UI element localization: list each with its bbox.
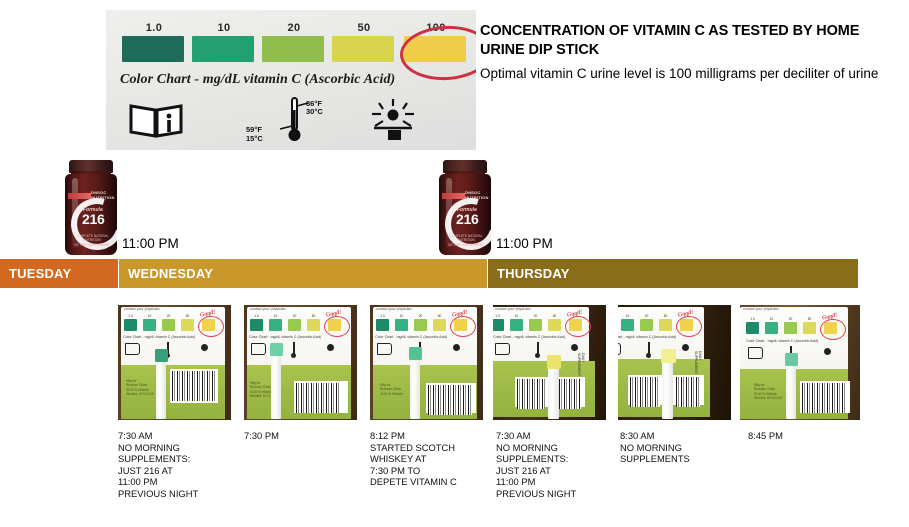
- page-title: CONCENTRATION OF VITAMIN C AS TESTED BY …: [480, 22, 880, 60]
- test-photo-5: 1.0 10 20 50 100 Good! Color Chart - mg/…: [618, 305, 731, 420]
- mfg-address: Mfg for Riordan Clinic 3100 N Hillside W…: [754, 383, 782, 401]
- mfg-line-3: Wichita, KS 67219: [126, 392, 154, 396]
- mini-num-1: 10: [269, 314, 282, 318]
- mfg-line-3: Wichita, KS 67219: [754, 396, 782, 400]
- barcode-icon-left: [517, 379, 545, 409]
- swatch-color-2: [262, 36, 324, 62]
- swatch-color-0: [122, 36, 184, 62]
- caption-2-line-0: 7:30 PM: [244, 430, 372, 442]
- mini-thermometer-bulb-icon: [535, 353, 540, 358]
- bottle-label-closeup: contact your physician. 1.0 10 20 50 100…: [370, 305, 483, 420]
- swatch-10: 10: [192, 22, 256, 62]
- barcode-icon: [172, 371, 216, 401]
- bottle-label-closeup: contact your physician. 1.0 10 20 50 100…: [493, 305, 606, 420]
- color-swatch-row: 1.0 10 20 50 100: [122, 22, 462, 70]
- barcode-icon-right: [559, 379, 581, 409]
- caption-4-line-2: SUPPLEMENTS:: [496, 453, 624, 465]
- mini-sun-icon: [571, 344, 578, 351]
- mini-swatch-1: [765, 322, 778, 334]
- mini-book-icon: [377, 343, 392, 355]
- mini-swatch-2: [288, 319, 301, 331]
- timeline-day-tuesday: TUESDAY: [0, 259, 118, 288]
- mini-thermometer-bulb-icon: [291, 353, 296, 358]
- test-strip-pad-1: [155, 349, 168, 362]
- caption-5-line-1: NO MORNING: [620, 442, 748, 454]
- page-subtitle: Optimal vitamin C urine level is 100 mil…: [480, 64, 880, 83]
- test-caption-1: 7:30 AM NO MORNING SUPPLEMENTS: JUST 216…: [118, 430, 246, 500]
- mini-book-icon: [125, 343, 140, 355]
- caption-4-line-0: 7:30 AM: [496, 430, 624, 442]
- bottle-footer-line1: COMPLETE NATURAL NUTRITION: [446, 234, 486, 243]
- bottle-graphic: DNSOC NUTRITION Formula 216 COMPLETE NAT…: [434, 160, 496, 255]
- caption-3-line-3: 7:30 PM TO: [370, 465, 498, 477]
- caption-1-line-4: 11:00 PM: [118, 476, 246, 488]
- mini-red-circle-icon: [820, 319, 846, 340]
- label-side-text: DAILY SUPPLEMENT: [576, 353, 585, 363]
- caption-3-line-2: WHISKEY AT: [370, 453, 498, 465]
- mini-swatch-3: [548, 319, 561, 331]
- label-mini-swatches: 1.0 10 20 50 100 Good!: [746, 317, 846, 337]
- swatch-label-0: 1.0: [122, 22, 186, 34]
- mini-chart-caption: Color Chart - mg/dL vitamin C (Ascorbic …: [746, 339, 846, 343]
- mini-swatch-3: [433, 319, 446, 331]
- bottle-footer-line2: DIETARY SUPPLEMENT: [446, 243, 486, 247]
- swatch-label-2: 20: [262, 22, 326, 34]
- temp-high-c: 30°C: [306, 107, 323, 116]
- mfg-address: Mfg for Riordan Clinic 3100 N Hillside: [380, 383, 403, 396]
- bottle-footer-text: COMPLETE NATURAL NUTRITION DIETARY SUPPL…: [446, 234, 486, 247]
- caption-5-line-2: SUPPLEMENTS: [620, 453, 748, 465]
- mini-sun-icon: [327, 344, 334, 351]
- mini-swatch-0: [376, 319, 389, 331]
- test-caption-6: 8:45 PM: [748, 430, 876, 442]
- test-strip-pad-5: [661, 349, 676, 363]
- test-photo-2: contact your physician. 1.0 10 20 50 100…: [244, 305, 357, 420]
- mini-red-circle-icon: [450, 316, 476, 337]
- swatch-color-1: [192, 36, 254, 62]
- mini-sun-icon: [824, 348, 831, 355]
- mini-chart-caption: Color Chart - mg/dL vitamin C (Ascorbic …: [493, 335, 593, 339]
- mini-swatch-3: [181, 319, 194, 331]
- mini-red-circle-icon: [676, 316, 702, 337]
- bottle-graphic: DNSOC NUTRITION Formula 216 COMPLETE NAT…: [60, 160, 122, 255]
- temp-low-f: 59°F: [246, 125, 262, 134]
- mini-num-0: 1.0: [376, 314, 389, 318]
- mini-swatch-2: [529, 319, 542, 331]
- timeline-bar: TUESDAY WEDNESDAY THURSDAY: [0, 259, 858, 288]
- test-caption-5: 8:30 AM NO MORNING SUPPLEMENTS: [620, 430, 748, 465]
- timeline-day-thursday: THURSDAY: [488, 259, 858, 288]
- mini-swatch-0: [124, 319, 137, 331]
- mini-num-1: 10: [510, 314, 523, 318]
- caption-4-line-5: PREVIOUS NIGHT: [496, 488, 624, 500]
- timeline-day-wednesday: WEDNESDAY: [119, 259, 487, 288]
- mini-book-icon: [495, 343, 510, 355]
- timeline-day-label-0: TUESDAY: [0, 266, 71, 281]
- mini-num-2: 20: [414, 314, 427, 318]
- barcode-icon-right: [676, 377, 700, 407]
- mini-red-circle-icon: [565, 316, 591, 337]
- timeline-day-label-2: THURSDAY: [488, 266, 570, 281]
- barcode-icon-left: [630, 377, 660, 407]
- swatch-label-3: 50: [332, 22, 396, 34]
- label-mini-swatches: 1.0 10 20 50 100 Good!: [250, 314, 350, 334]
- caption-4-line-1: NO MORNING: [496, 442, 624, 454]
- caption-3-line-1: STARTED SCOTCH: [370, 442, 498, 454]
- bottle-time-label-2: 11:00 PM: [496, 236, 553, 251]
- mini-num-2: 20: [529, 314, 542, 318]
- caption-1-line-3: JUST 216 AT: [118, 465, 246, 477]
- bottle-footer-line1: COMPLETE NATURAL NUTRITION: [72, 234, 112, 243]
- mini-chart-caption: Color Chart - mg/dL vitamin C (Ascorbic …: [123, 335, 223, 339]
- mini-num-2: 20: [640, 314, 653, 318]
- sun-no-sunlight-icon: [364, 98, 422, 144]
- mini-num-2: 20: [288, 314, 301, 318]
- mini-num-3: 50: [181, 314, 194, 318]
- supplement-bottle-wednesday: DNSOC NUTRITION Formula 216 COMPLETE NAT…: [434, 160, 496, 255]
- caption-4-line-4: 11:00 PM: [496, 476, 624, 488]
- label-mini-swatches: 1.0 10 20 50 100 Good!: [618, 314, 702, 334]
- caption-3-line-0: 8:12 PM: [370, 430, 498, 442]
- test-caption-3: 8:12 PM STARTED SCOTCH WHISKEY AT 7:30 P…: [370, 430, 498, 488]
- test-strip-pad-2: [270, 343, 283, 356]
- caption-1-line-1: NO MORNING: [118, 442, 246, 454]
- barcode-icon: [428, 385, 472, 415]
- mini-swatch-3: [307, 319, 320, 331]
- swatch-1.0: 1.0: [122, 22, 186, 62]
- mini-num-1: 10: [395, 314, 408, 318]
- caption-3-line-4: DEPETE VITAMIN C: [370, 476, 498, 488]
- mini-swatch-0: [493, 319, 504, 331]
- mini-num-0: 1.0: [746, 317, 759, 321]
- caption-1-line-2: SUPPLEMENTS:: [118, 453, 246, 465]
- test-strip-pad-6: [785, 353, 798, 366]
- mini-red-circle-icon: [198, 316, 224, 337]
- mini-num-2: 20: [162, 314, 175, 318]
- mini-sun-icon: [453, 344, 460, 351]
- mini-swatch-0: [250, 319, 263, 331]
- bottle-time-label-1: 11:00 PM: [122, 236, 179, 251]
- test-photo-1: contact your physician. 1.0 10 20 50 100…: [118, 305, 231, 420]
- test-photo-4: contact your physician. 1.0 10 20 50 100…: [493, 305, 606, 420]
- test-photo-3: contact your physician. 1.0 10 20 50 100…: [370, 305, 483, 420]
- temp-low-c: 15°C: [246, 134, 263, 143]
- mini-red-circle-icon: [324, 316, 350, 337]
- swatch-color-3: [332, 36, 394, 62]
- bottle-label-closeup: 1.0 10 20 50 100 Good! Color Chart - mg/…: [618, 305, 731, 420]
- mini-swatch-2: [640, 319, 653, 331]
- caption-1-line-0: 7:30 AM: [118, 430, 246, 442]
- title-block: CONCENTRATION OF VITAMIN C AS TESTED BY …: [480, 22, 880, 83]
- mini-book-icon: [748, 347, 763, 359]
- bottle-label-closeup: contact your physician. 1.0 10 20 50 100…: [118, 305, 231, 420]
- mini-sun-icon: [682, 344, 689, 351]
- label-side-text: DAILY SUPPLEMENT: [693, 351, 702, 361]
- swatch-label-1: 10: [192, 22, 256, 34]
- mini-swatch-2: [162, 319, 175, 331]
- test-caption-4: 7:30 AM NO MORNING SUPPLEMENTS: JUST 216…: [496, 430, 624, 500]
- mfg-line-2: 3100 N Hillside: [380, 392, 403, 396]
- mini-book-icon: [618, 343, 621, 355]
- mini-swatch-1: [143, 319, 156, 331]
- mini-swatch-1: [269, 319, 282, 331]
- label-mini-swatches: 1.0 10 20 50 100 Good!: [124, 314, 224, 334]
- mini-swatch-3: [803, 322, 816, 334]
- test-caption-2: 7:30 PM: [244, 430, 372, 442]
- mini-num-0: 1.0: [124, 314, 137, 318]
- mini-swatch-3: [659, 319, 672, 331]
- mini-swatch-0: [746, 322, 759, 334]
- mini-swatch-2: [414, 319, 427, 331]
- caption-6-line-0: 8:45 PM: [748, 430, 876, 442]
- bottle-label-closeup: contact your physician. 1.0 10 20 50 100…: [244, 305, 357, 420]
- book-info-icon: [128, 100, 186, 140]
- caption-5-line-0: 8:30 AM: [620, 430, 748, 442]
- color-chart-photo: 1.0 10 20 50 100 Color Chart - mg/dL vit…: [106, 10, 476, 150]
- mini-book-icon: [251, 343, 266, 355]
- test-photo-6: contact your physician. 1.0 10 20 50 100…: [740, 305, 860, 420]
- mini-num-1: 10: [765, 317, 778, 321]
- mini-chart-caption: Color Chart - mg/dL vitamin C (Ascorbic …: [618, 335, 704, 339]
- label-mini-swatches: 1.0 10 20 50 100 Good!: [493, 314, 591, 334]
- mini-icon-row: [249, 341, 349, 361]
- mini-swatch-2: [784, 322, 797, 334]
- bottle-body: DNSOC NUTRITION Formula 216 COMPLETE NAT…: [65, 174, 117, 255]
- bottle-red-banner: [442, 193, 465, 199]
- test-strip-pad-3: [409, 347, 422, 360]
- barcode-icon: [296, 383, 340, 413]
- mini-sun-icon: [201, 344, 208, 351]
- mini-num-1: 10: [143, 314, 156, 318]
- chart-icon-row: 86°F 30°C 59°F 15°C: [106, 98, 476, 148]
- mfg-address: Mfg for Riordan Clinic 3100 N Hillside W…: [126, 379, 154, 397]
- mini-icon-row: [123, 341, 223, 361]
- supplement-bottle-tuesday: DNSOC NUTRITION Formula 216 COMPLETE NAT…: [60, 160, 122, 255]
- mini-num-0: 1.0: [250, 314, 263, 318]
- barcode-icon: [802, 383, 846, 413]
- mini-num-3: 50: [803, 317, 816, 321]
- timeline-day-label-1: WEDNESDAY: [119, 266, 213, 281]
- test-strip-pad-4: [547, 355, 561, 369]
- bottle-number-text: 216: [82, 211, 117, 227]
- swatch-50: 50: [332, 22, 396, 62]
- swatch-20: 20: [262, 22, 326, 62]
- mini-num-0: 1.0: [493, 314, 504, 318]
- mini-chart-caption: Color Chart - mg/dL vitamin C (Ascorbic …: [249, 335, 349, 339]
- bottle-body: DNSOC NUTRITION Formula 216 COMPLETE NAT…: [439, 174, 491, 255]
- mini-swatch-1: [510, 319, 523, 331]
- mini-num-3: 50: [659, 314, 672, 318]
- mini-num-3: 50: [307, 314, 320, 318]
- mini-swatch-1: [621, 319, 634, 331]
- caption-4-line-3: JUST 216 AT: [496, 465, 624, 477]
- color-chart-caption: Color Chart - mg/dL vitamin C (Ascorbic …: [120, 72, 395, 88]
- label-top-line: contact your physician.: [743, 307, 839, 311]
- label-mini-swatches: 1.0 10 20 50 100 Good!: [376, 314, 476, 334]
- bottle-footer-text: COMPLETE NATURAL NUTRITION DIETARY SUPPL…: [72, 234, 112, 247]
- mini-num-3: 50: [433, 314, 446, 318]
- mini-chart-caption: Color Chart - mg/dL vitamin C (Ascorbic …: [375, 335, 475, 339]
- mini-num-1: 10: [621, 314, 634, 318]
- mini-icon-row: [375, 341, 475, 361]
- bottle-label-closeup: contact your physician. 1.0 10 20 50 100…: [740, 305, 860, 420]
- test-strip-2: [271, 345, 281, 419]
- bottle-red-banner: [68, 193, 91, 199]
- mini-swatch-1: [395, 319, 408, 331]
- mini-num-3: 50: [548, 314, 561, 318]
- bottle-number-text: 216: [456, 211, 491, 227]
- bottle-footer-line2: DIETARY SUPPLEMENT: [72, 243, 112, 247]
- mini-num-2: 20: [784, 317, 797, 321]
- caption-1-line-5: PREVIOUS NIGHT: [118, 488, 246, 500]
- mini-thermometer-bulb-icon: [646, 353, 651, 358]
